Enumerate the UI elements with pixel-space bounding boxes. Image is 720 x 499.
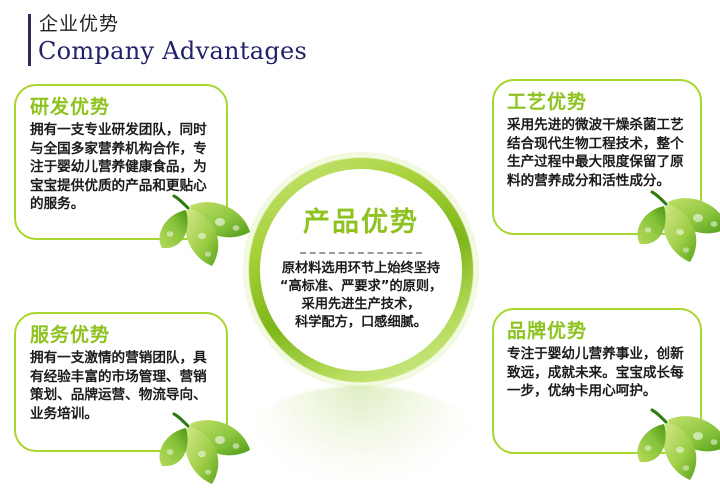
circle-body-line: 原材料选用环节上始终坚持	[280, 260, 442, 278]
center-circle[interactable]: 产品优势 原材料选用环节上始终坚持 “高标准、严要求”的原则， 采用先进生产技术…	[249, 158, 473, 382]
page-title-en: Company Advantages	[38, 36, 307, 66]
circle-body-line: 采用先进生产技术，	[280, 296, 442, 314]
card-service[interactable]: 服务优势 拥有一支激情的营销团队，具有经验丰富的市场管理、营销策划、品牌运营、物…	[14, 312, 228, 452]
card-research-development[interactable]: 研发优势 拥有一支专业研发团队，同时与全国多家营养机构合作，专注于婴幼儿营养健康…	[14, 84, 228, 240]
card-body: 拥有一支专业研发团队，同时与全国多家营养机构合作，专注于婴幼儿营养健康食品，为宝…	[30, 121, 214, 214]
card-body: 专注于婴幼儿营养事业，创新致远，成就未来。宝宝成长每一步，优纳卡用心呵护。	[507, 345, 688, 401]
header-accent-bar	[28, 14, 31, 66]
card-brand[interactable]: 品牌优势 专注于婴幼儿营养事业，创新致远，成就未来。宝宝成长每一步，优纳卡用心呵…	[492, 308, 702, 454]
page-header: 企业优势 Company Advantages	[28, 12, 448, 68]
card-content: 品牌优势 专注于婴幼儿营养事业，创新致远，成就未来。宝宝成长每一步，优纳卡用心呵…	[507, 319, 688, 401]
card-body: 采用先进的微波干燥杀菌工艺结合现代生物工程技术，整个生产过程中最大限度保留了原料…	[507, 116, 688, 190]
card-title: 工艺优势	[507, 90, 688, 115]
card-title: 品牌优势	[507, 319, 688, 344]
card-content: 服务优势 拥有一支激情的营销团队，具有经验丰富的市场管理、营销策划、品牌运营、物…	[30, 323, 214, 423]
circle-body: 原材料选用环节上始终坚持 “高标准、严要求”的原则， 采用先进生产技术， 科学配…	[280, 260, 442, 332]
circle-body-line: “高标准、严要求”的原则，	[280, 278, 442, 296]
circle-inner-face: 产品优势 原材料选用环节上始终坚持 “高标准、严要求”的原则， 采用先进生产技术…	[260, 169, 462, 371]
card-body: 拥有一支激情的营销团队，具有经验丰富的市场管理、营销策划、品牌运营、物流导向、业…	[30, 349, 214, 423]
circle-title: 产品优势	[303, 207, 419, 239]
infographic-canvas: 企业优势 Company Advantages 研发优势 拥有一支专业研发团队，…	[0, 0, 720, 499]
circle-content: 产品优势 原材料选用环节上始终坚持 “高标准、严要求”的原则， 采用先进生产技术…	[260, 169, 462, 371]
page-title-cn: 企业优势	[39, 12, 119, 36]
circle-reflection	[249, 386, 473, 482]
card-content: 工艺优势 采用先进的微波干燥杀菌工艺结合现代生物工程技术，整个生产过程中最大限度…	[507, 90, 688, 190]
card-title: 服务优势	[30, 323, 214, 348]
circle-body-line: 科学配方，口感细腻。	[280, 314, 442, 332]
card-content: 研发优势 拥有一支专业研发团队，同时与全国多家营养机构合作，专注于婴幼儿营养健康…	[30, 95, 214, 214]
dashed-divider	[300, 252, 422, 254]
card-process-technology[interactable]: 工艺优势 采用先进的微波干燥杀菌工艺结合现代生物工程技术，整个生产过程中最大限度…	[492, 79, 702, 235]
card-title: 研发优势	[30, 95, 214, 120]
